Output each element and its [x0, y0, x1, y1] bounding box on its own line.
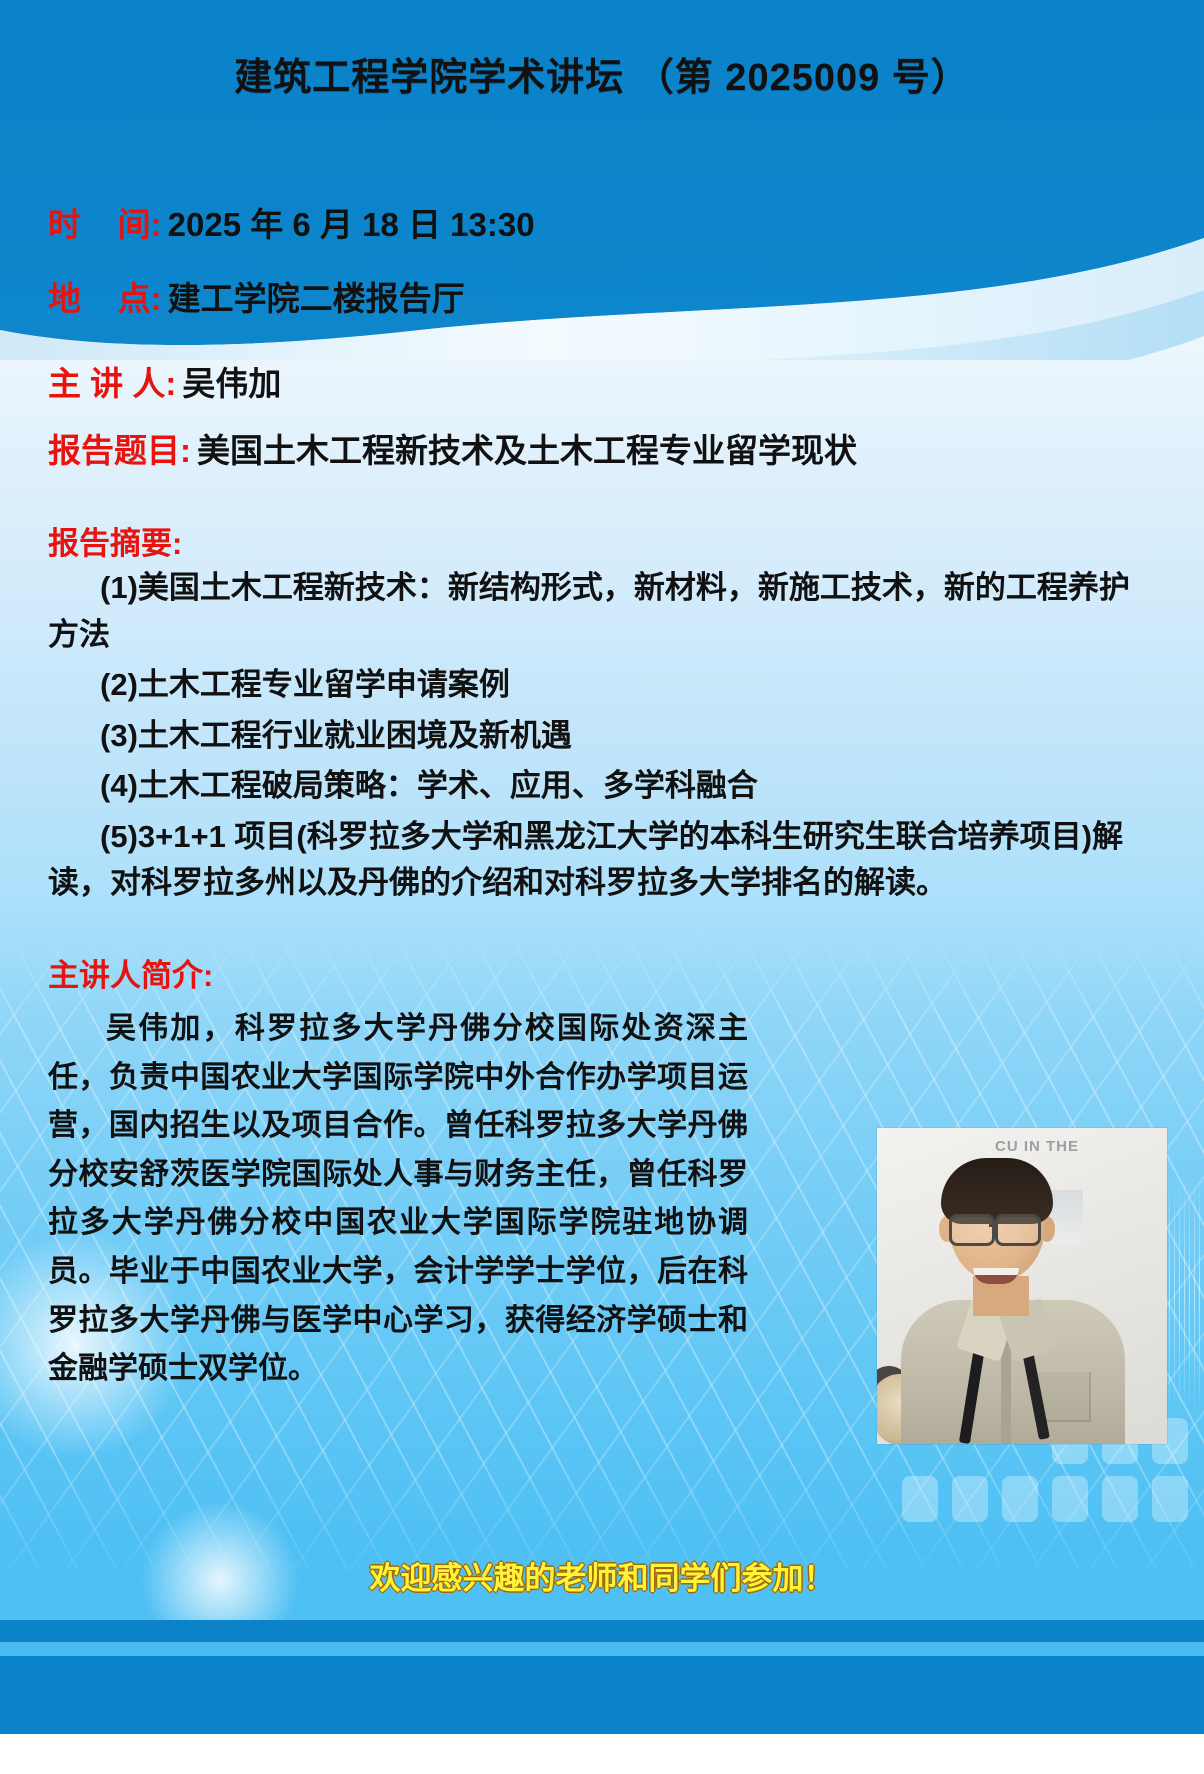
- place-label: 地 点:: [48, 272, 162, 320]
- speaker-value: 吴伟加: [182, 357, 281, 405]
- info-row-topic: 报告题目: 美国土木工程新技术及土木工程专业留学现状: [48, 424, 857, 472]
- info-row-time: 时 间: 2025 年 6 月 18 日 13:30: [48, 198, 535, 246]
- seminar-poster: 建筑工程学院学术讲坛 （第 2025009 号） 时 间: 2025 年 6 月…: [0, 0, 1204, 1774]
- abstract-body: (1)美国土木工程新技术：新结构形式，新材料，新施工技术，新的工程养护方法 (2…: [48, 565, 1156, 911]
- abstract-heading: 报告摘要:: [48, 518, 182, 563]
- time-value: 2025 年 6 月 18 日 13:30: [168, 198, 535, 246]
- photo-backdrop-text: CU IN THE: [995, 1138, 1079, 1155]
- page-title: 建筑工程学院学术讲坛 （第 2025009 号）: [0, 46, 1204, 101]
- glasses-icon: [995, 1214, 1041, 1246]
- info-row-place: 地 点: 建工学院二楼报告厅: [48, 272, 465, 320]
- welcome-message: 欢迎感兴趣的老师和同学们参加！: [0, 1553, 1204, 1598]
- speaker-label: 主 讲 人:: [48, 357, 176, 405]
- glasses-bridge: [989, 1224, 998, 1227]
- time-label: 时 间:: [48, 198, 162, 246]
- abstract-item: (3)土木工程行业就业困境及新机遇: [48, 713, 1156, 760]
- abstract-item: (1)美国土木工程新技术：新结构形式，新材料，新施工技术，新的工程养护方法: [48, 565, 1156, 658]
- bio-heading: 主讲人简介:: [48, 950, 213, 995]
- abstract-item: (2)土木工程专业留学申请案例: [48, 662, 1156, 709]
- glasses-icon: [949, 1214, 995, 1246]
- info-row-speaker: 主 讲 人: 吴伟加: [48, 357, 281, 405]
- abstract-item: (5)3+1+1 项目(科罗拉多大学和黑龙江大学的本科生研究生联合培养项目)解读…: [48, 814, 1156, 907]
- bio-body: 吴伟加，科罗拉多大学丹佛分校国际处资深主任，负责中国农业大学国际学院中外合作办学…: [48, 1005, 748, 1394]
- abstract-item: (4)土木工程破局策略：学术、应用、多学科融合: [48, 763, 1156, 810]
- topic-value: 美国土木工程新技术及土木工程专业留学现状: [197, 424, 857, 472]
- speaker-photo: CU IN THE: [877, 1128, 1167, 1444]
- place-value: 建工学院二楼报告厅: [168, 272, 465, 320]
- topic-label: 报告题目:: [48, 424, 191, 472]
